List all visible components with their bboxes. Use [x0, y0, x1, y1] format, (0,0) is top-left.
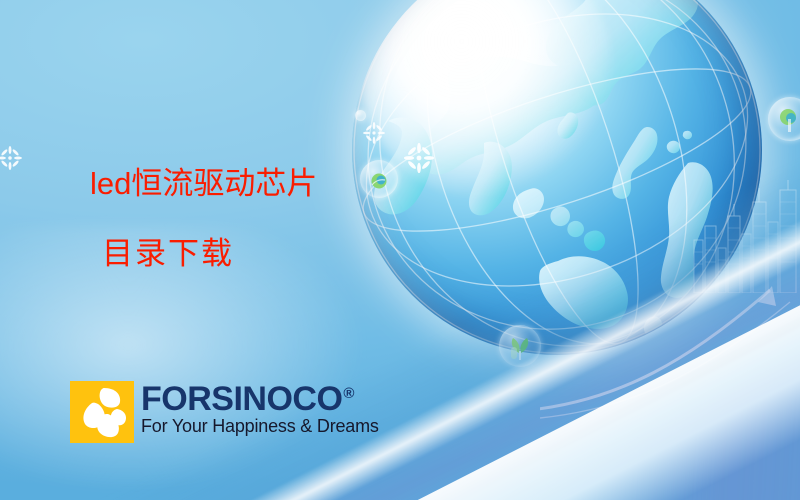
bubble-right-content	[768, 97, 800, 141]
slide-canvas: led恒流驱动芯片 目录下载 FORSINOCO ® For Your Happ…	[0, 0, 800, 500]
bubble-with-globe	[360, 160, 398, 198]
bubble-small	[355, 110, 366, 121]
company-logo: FORSINOCO ® For Your Happiness & Dreams	[70, 381, 379, 443]
flower-sparkle-left-icon	[0, 146, 22, 170]
pinwheel-petals	[70, 381, 134, 443]
headline-line-2: 目录下载	[102, 238, 234, 269]
registered-trademark-symbol: ®	[343, 386, 354, 401]
brand-wordmark: FORSINOCO ®	[141, 384, 379, 415]
forsinoco-pinwheel-mark-icon	[70, 381, 134, 443]
headline-line-1: led恒流驱动芯片	[90, 168, 317, 199]
bubble-right-edge	[768, 97, 800, 141]
brand-tagline: For Your Happiness & Dreams	[141, 417, 379, 437]
flower-sparkle-small-icon	[363, 122, 385, 144]
flower-sparkle-large-icon	[404, 143, 434, 173]
bubble-globe-content	[360, 160, 398, 198]
brand-name: FORSINOCO	[141, 384, 342, 415]
